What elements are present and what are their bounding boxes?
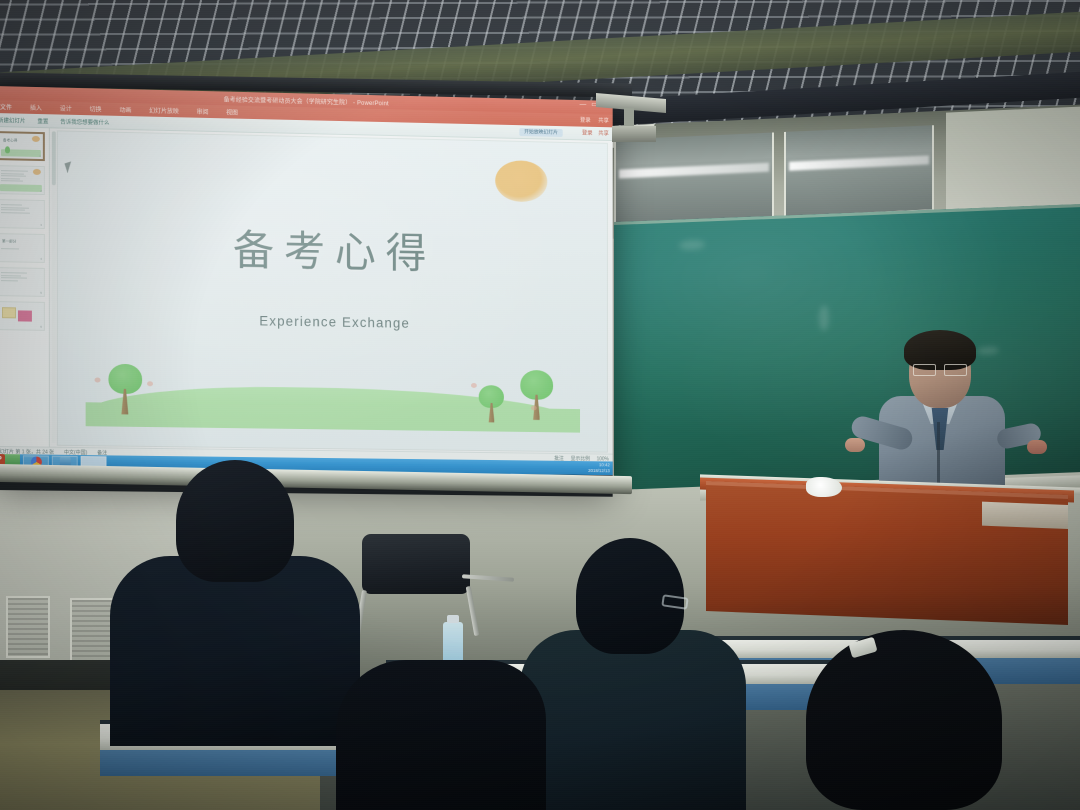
ribbon-share[interactable]: 共享 xyxy=(598,129,609,137)
slide-thumbnail-4[interactable]: 第一部分 4 xyxy=(0,233,45,263)
presenter-glasses xyxy=(913,364,967,374)
thumb-text-lines xyxy=(1,272,34,283)
slide-editing-area[interactable]: 备考心得 Experience Exchange xyxy=(58,131,607,451)
tree-right-2 xyxy=(520,370,553,421)
thumb-title-4: 第一部分 xyxy=(2,239,16,244)
projector-body xyxy=(612,126,656,142)
clock-date: 2018/12/13 xyxy=(588,468,610,474)
tell-me-box[interactable]: 告诉我您想要做什么 xyxy=(60,117,109,126)
thumb-number-2: 2 xyxy=(40,189,42,193)
scrollbar-thumb[interactable] xyxy=(52,131,56,185)
projected-image: 备考经验交流暨考研动员大会（学院研究生院） - PowerPoint — ▭ ✕… xyxy=(0,86,613,475)
student-right xyxy=(806,630,1006,810)
projection-screen: 备考经验交流暨考研动员大会（学院研究生院） - PowerPoint — ▭ ✕… xyxy=(0,86,613,497)
tab-animations[interactable]: 动画 xyxy=(119,105,131,114)
slide-thumbnail-6[interactable]: 6 xyxy=(0,301,45,331)
sun-graphic xyxy=(495,160,547,202)
window-pane-1 xyxy=(614,132,774,225)
tissue-on-podium xyxy=(806,477,842,497)
bottle-cap xyxy=(447,615,459,623)
slide-thumbnail-2[interactable]: 2 xyxy=(0,165,45,195)
ppt-tabs-right[interactable]: 登录 共享 xyxy=(580,116,609,125)
tab-transitions[interactable]: 切换 xyxy=(90,104,102,113)
presenter-left-hand xyxy=(845,438,865,452)
podium-notch xyxy=(982,502,1068,529)
thumb-number-3: 3 xyxy=(40,223,42,227)
thumb-number-5: 5 xyxy=(40,291,42,295)
tree-right-1 xyxy=(479,385,504,423)
slide-thumbnail-5[interactable]: 5 xyxy=(0,267,45,297)
student-partial-silhouette xyxy=(336,660,546,810)
wooden-podium xyxy=(706,481,1068,625)
start-slideshow-button[interactable]: 开始放映幻灯片 xyxy=(519,128,562,137)
thumb-image-placeholder xyxy=(2,307,16,318)
thumb-number-4: 4 xyxy=(40,257,42,261)
student-center xyxy=(528,538,748,810)
slide-thumbnail-1[interactable]: 备考心得 1 xyxy=(0,131,45,161)
tree-left xyxy=(108,363,142,414)
tab-review[interactable]: 审阅 xyxy=(197,107,209,116)
student-front-left-head xyxy=(176,460,294,582)
tab-slideshow[interactable]: 幻灯片放映 xyxy=(149,106,179,116)
system-tray[interactable]: 10:42 2018/12/13 xyxy=(588,462,610,474)
slide-thumbnail-3[interactable]: 3 xyxy=(0,199,45,229)
reset-button[interactable]: 重置 xyxy=(37,117,48,125)
thumb-sun-icon xyxy=(32,136,40,142)
powerpoint-window: 备考经验交流暨考研动员大会（学院研究生院） - PowerPoint — ▭ ✕… xyxy=(0,86,613,475)
empty-chair xyxy=(362,534,470,594)
tab-view[interactable]: 视图 xyxy=(226,107,238,116)
ppt-window-title: 备考经验交流暨考研动员大会（学院研究生院） - PowerPoint xyxy=(224,94,389,107)
student-front-left-body xyxy=(110,556,360,746)
thumbnail-scrollbar[interactable] xyxy=(52,131,56,442)
tab-file[interactable]: 文件 xyxy=(0,102,12,111)
minimize-button[interactable]: — xyxy=(579,101,587,109)
thumb-hill-graphic xyxy=(0,184,42,192)
signin-label[interactable]: 登录 xyxy=(580,116,591,124)
student-center-body xyxy=(520,630,746,810)
ribbon-signin[interactable]: 登录 xyxy=(582,129,593,137)
thumb-number-6: 6 xyxy=(40,325,42,329)
thumb-text-lines xyxy=(1,204,34,215)
thumb-sun-icon xyxy=(33,169,41,175)
wall-vent-1 xyxy=(6,596,50,658)
presenter-right-hand xyxy=(1027,440,1047,454)
classroom-scene: 备考经验交流暨考研动员大会（学院研究生院） - PowerPoint — ▭ ✕… xyxy=(0,0,1080,810)
window-pane-2 xyxy=(784,125,934,218)
tab-design[interactable]: 设计 xyxy=(60,104,72,113)
new-slide-button[interactable]: 新建幻灯片 xyxy=(0,116,25,125)
ppt-ribbon-right[interactable]: 登录 共享 xyxy=(582,129,609,137)
tab-insert[interactable]: 插入 xyxy=(30,103,42,112)
thumb-text-lines xyxy=(1,170,34,184)
thumb-title-1: 备考心得 xyxy=(3,138,17,143)
slide-thumbnail-panel[interactable]: 备考心得 1 2 xyxy=(0,127,50,447)
thumb-tree-icon xyxy=(5,146,10,153)
student-right-hair xyxy=(806,630,1002,810)
share-label[interactable]: 共享 xyxy=(598,116,609,124)
slide-title: 备考心得 xyxy=(58,213,607,284)
thumb-number-1: 1 xyxy=(39,154,41,158)
thumb-image-placeholder-2 xyxy=(18,310,32,321)
